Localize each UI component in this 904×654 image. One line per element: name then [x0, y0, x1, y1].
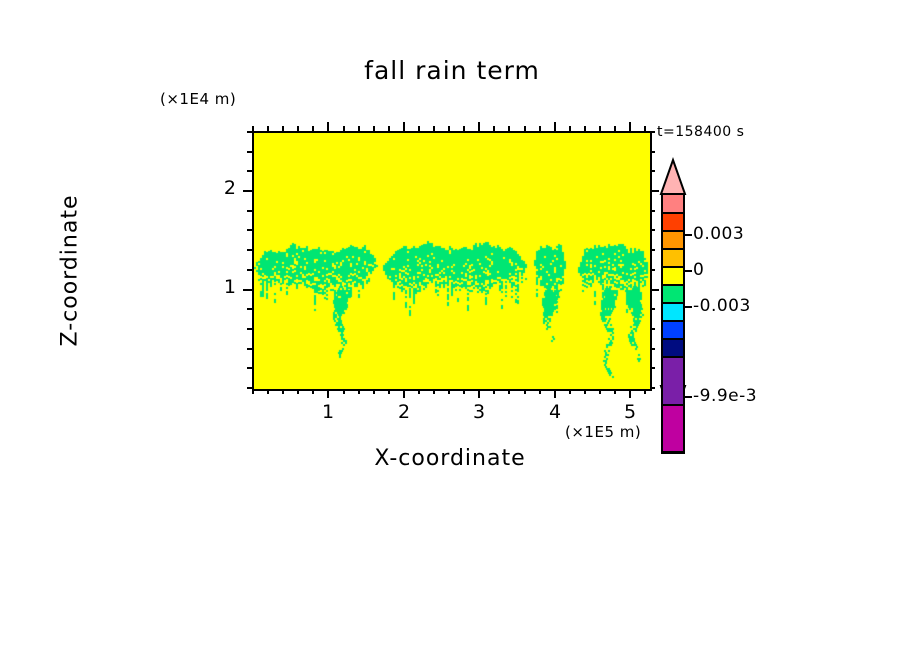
colorbar-separator	[661, 284, 685, 286]
colorbar-band-1	[661, 213, 685, 231]
colorbar-band-8	[661, 339, 685, 357]
colorbar-separator	[661, 320, 685, 322]
contour-field	[254, 133, 650, 389]
colorbar-band-5	[661, 285, 685, 303]
page-title: fall rain term	[0, 56, 904, 85]
plot-area[interactable]	[252, 131, 652, 391]
tick-mark	[478, 122, 480, 131]
colorbar-band-0	[661, 193, 685, 213]
colorbar-tick	[683, 234, 692, 236]
x-axis-title: X-coordinate	[252, 446, 648, 471]
colorbar-separator	[661, 356, 685, 358]
colorbar-label-2: -0.003	[693, 296, 751, 316]
x-tick-label-2: 2	[384, 401, 424, 423]
y-axis-title: Z-coordinate	[58, 141, 83, 401]
colorbar-tick	[683, 306, 692, 308]
colorbar-label-0: 0.003	[693, 224, 744, 244]
colorbar-band-3	[661, 249, 685, 267]
x-tick-label-3: 3	[459, 401, 499, 423]
colorbar-band-4	[661, 267, 685, 285]
y-tick-label-1: 1	[196, 276, 236, 298]
colorbar-band-6	[661, 303, 685, 321]
colorbar-bands	[661, 193, 685, 513]
colorbar-top-arrow-icon	[661, 160, 685, 194]
colorbar-separator	[661, 404, 685, 406]
x-tick-label-5: 5	[610, 401, 650, 423]
tick-mark	[243, 289, 252, 291]
colorbar-separator	[661, 248, 685, 250]
y-axis-unit-label: (×1E4 m)	[160, 90, 236, 108]
colorbar-separator	[661, 451, 685, 453]
time-annotation: t=158400 s	[657, 124, 744, 140]
tick-mark	[243, 190, 252, 192]
colorbar-band-10	[661, 405, 685, 453]
colorbar-band-2	[661, 231, 685, 249]
x-tick-label-1: 1	[308, 401, 348, 423]
y-tick-label-2: 2	[196, 177, 236, 199]
tick-mark	[554, 122, 556, 131]
colorbar-band-9	[661, 357, 685, 405]
colorbar-tick	[683, 396, 692, 398]
colorbar-label-3: -9.9e-3	[693, 386, 757, 406]
colorbar-tick	[683, 270, 692, 272]
colorbar-separator	[661, 338, 685, 340]
colorbar-label-1: 0	[693, 260, 704, 280]
colorbar-separator	[661, 212, 685, 214]
colorbar-band-7	[661, 321, 685, 339]
tick-mark	[327, 122, 329, 131]
colorbar-separator	[661, 266, 685, 268]
tick-mark	[403, 122, 405, 131]
tick-mark	[629, 122, 631, 131]
colorbar-separator	[661, 230, 685, 232]
colorbar[interactable]: 0.0030-0.003-9.9e-3	[659, 160, 693, 412]
x-tick-label-4: 4	[535, 401, 575, 423]
x-axis-unit-label: (×1E5 m)	[565, 423, 641, 441]
colorbar-separator	[661, 193, 685, 195]
colorbar-separator	[661, 302, 685, 304]
